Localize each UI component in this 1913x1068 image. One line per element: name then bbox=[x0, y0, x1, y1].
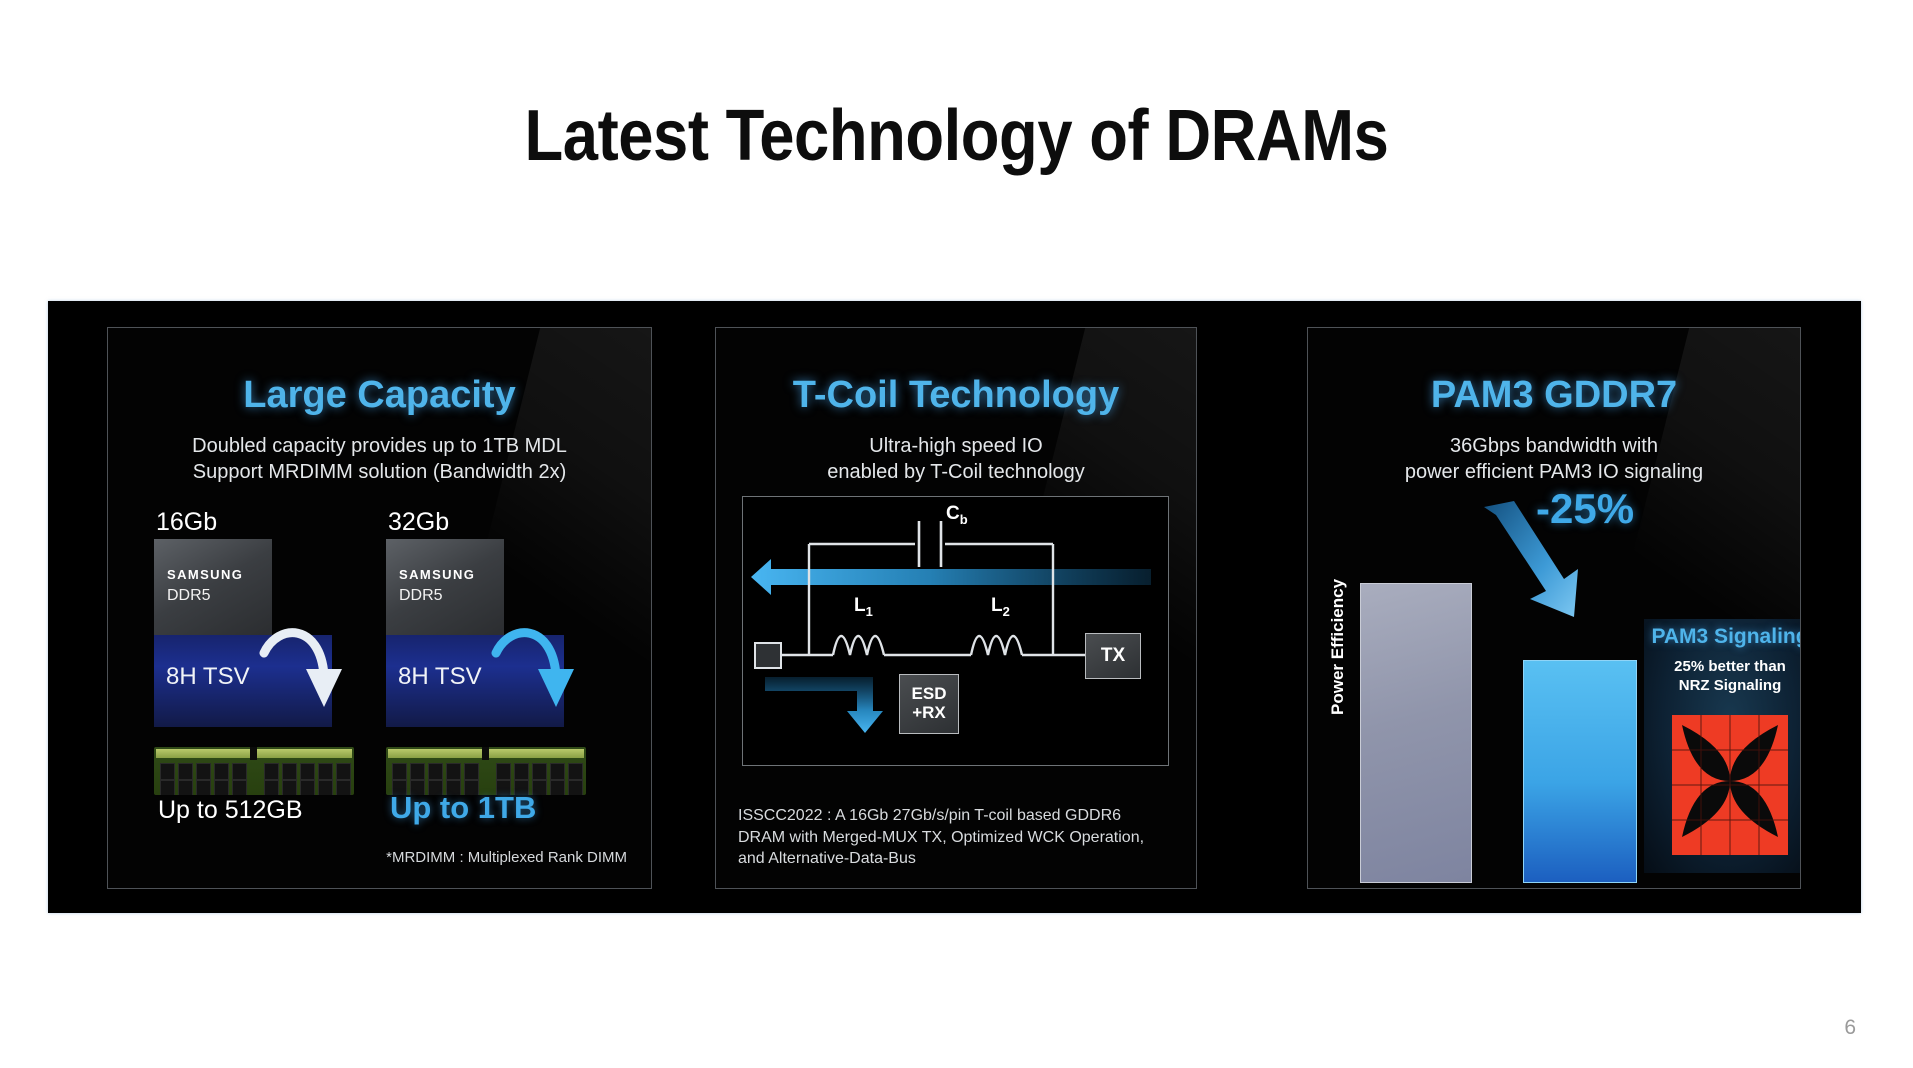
dimm-module-16gb bbox=[154, 747, 354, 795]
inductor-1-subscript: 1 bbox=[866, 604, 873, 619]
content-board: Large Capacity Doubled capacity provides… bbox=[48, 301, 1861, 913]
inductor-2-label: L2 bbox=[991, 595, 1010, 619]
panel-1-subtitle: Doubled capacity provides up to 1TB MDL … bbox=[108, 433, 651, 486]
down-arrow-blue-icon bbox=[490, 619, 580, 727]
capacity-column-16gb: 16Gb SAMSUNG DDR5 8H TSV bbox=[154, 508, 354, 795]
dimm-module-32gb bbox=[386, 747, 586, 795]
panel-2-subtitle-line-2: enabled by T-Coil technology bbox=[716, 459, 1196, 485]
tx-block: TX bbox=[1085, 633, 1141, 679]
signal-arrow-down-icon bbox=[765, 677, 883, 733]
tsv-stack-label: 8H TSV bbox=[398, 663, 482, 691]
pam3-signaling-card: PAM3 Signaling 25% better than NRZ Signa… bbox=[1644, 619, 1801, 873]
panel-pam3-gddr7: PAM3 GDDR7 36Gbps bandwidth with power e… bbox=[1307, 327, 1801, 889]
capacity-label-32gb: 32Gb bbox=[386, 508, 586, 537]
die-type-label: DDR5 bbox=[167, 587, 211, 605]
panel-2-caption-line-2: DRAM with Merged-MUX TX, Optimized WCK O… bbox=[738, 827, 1178, 849]
pam3-card-subtitle: 25% better than NRZ Signaling bbox=[1644, 657, 1801, 695]
die-type-label: DDR5 bbox=[399, 587, 443, 605]
panel-2-caption-line-3: and Alternative-Data-Bus bbox=[738, 848, 1178, 870]
pam3-card-title: PAM3 Signaling bbox=[1644, 625, 1801, 649]
page-number: 6 bbox=[1844, 1016, 1856, 1040]
panel-1-subtitle-line-1: Doubled capacity provides up to 1TB MDL bbox=[108, 433, 651, 459]
inductor-1-label: L1 bbox=[854, 595, 873, 619]
bar-pam3-signaling bbox=[1523, 660, 1637, 883]
total-capacity-16gb: Up to 512GB bbox=[158, 796, 303, 825]
capacity-column-32gb: 32Gb SAMSUNG DDR5 8H TSV bbox=[386, 508, 586, 795]
tsv-stack-32gb: 8H TSV bbox=[386, 635, 564, 727]
panel-2-subtitle-line-1: Ultra-high speed IO bbox=[716, 433, 1196, 459]
total-capacity-32gb: Up to 1TB bbox=[390, 790, 536, 826]
dram-die-32gb: SAMSUNG DDR5 bbox=[386, 539, 504, 635]
down-arrow-white-icon bbox=[258, 619, 348, 727]
pam3-eye-diagram-icon bbox=[1672, 715, 1788, 855]
inductor-2-subscript: 2 bbox=[1003, 604, 1010, 619]
tsv-stack-label: 8H TSV bbox=[166, 663, 250, 691]
panel-1-subtitle-line-2: Support MRDIMM solution (Bandwidth 2x) bbox=[108, 459, 651, 485]
panel-3-subtitle: 36Gbps bandwidth with power efficient PA… bbox=[1308, 433, 1800, 486]
panel-2-caption: ISSCC2022 : A 16Gb 27Gb/s/pin T-coil bas… bbox=[738, 805, 1178, 870]
page-title: Latest Technology of DRAMs bbox=[115, 95, 1798, 177]
panel-1-footnote: *MRDIMM : Multiplexed Rank DIMM bbox=[386, 849, 627, 866]
panel-2-subtitle: Ultra-high speed IO enabled by T-Coil te… bbox=[716, 433, 1196, 486]
panel-3-subtitle-line-1: 36Gbps bandwidth with bbox=[1308, 433, 1800, 459]
capacity-label-16gb: 16Gb bbox=[154, 508, 354, 537]
t-coil-circuit-diagram: Cb L1 L2 TX ESD +RX bbox=[742, 496, 1169, 766]
capacitor-label: Cb bbox=[946, 503, 968, 527]
panel-3-heading: PAM3 GDDR7 bbox=[1308, 374, 1800, 417]
delta-percentage-label: -25% bbox=[1536, 485, 1634, 533]
panel-3-subtitle-line-2: power efficient PAM3 IO signaling bbox=[1308, 459, 1800, 485]
panel-1-heading: Large Capacity bbox=[108, 374, 651, 417]
tsv-stack-16gb: 8H TSV bbox=[154, 635, 332, 727]
bar-nrz-signaling bbox=[1360, 583, 1472, 883]
die-brand-label: SAMSUNG bbox=[399, 567, 475, 582]
pam3-card-sub-line-1: 25% better than bbox=[1644, 657, 1801, 676]
signal-arrow-left-icon bbox=[751, 559, 1151, 595]
rx-label: +RX bbox=[912, 704, 946, 723]
esd-label: ESD bbox=[912, 685, 947, 704]
dimm-notch bbox=[482, 747, 489, 760]
panel-2-heading: T-Coil Technology bbox=[716, 374, 1196, 417]
esd-rx-block: ESD +RX bbox=[899, 674, 959, 734]
panel-large-capacity: Large Capacity Doubled capacity provides… bbox=[107, 327, 652, 889]
pam3-card-sub-line-2: NRZ Signaling bbox=[1644, 676, 1801, 695]
panel-t-coil-technology: T-Coil Technology Ultra-high speed IO en… bbox=[715, 327, 1197, 889]
dram-die-16gb: SAMSUNG DDR5 bbox=[154, 539, 272, 635]
dimm-notch bbox=[250, 747, 257, 760]
panel-2-caption-line-1: ISSCC2022 : A 16Gb 27Gb/s/pin T-coil bas… bbox=[738, 805, 1178, 827]
chart-y-axis-label: Power Efficiency bbox=[1328, 579, 1348, 715]
capacitor-subscript: b bbox=[960, 512, 968, 527]
die-brand-label: SAMSUNG bbox=[167, 567, 243, 582]
power-efficiency-bar-chart: Power Efficiency -25% PAM3 Signaling 25% bbox=[1308, 483, 1800, 883]
